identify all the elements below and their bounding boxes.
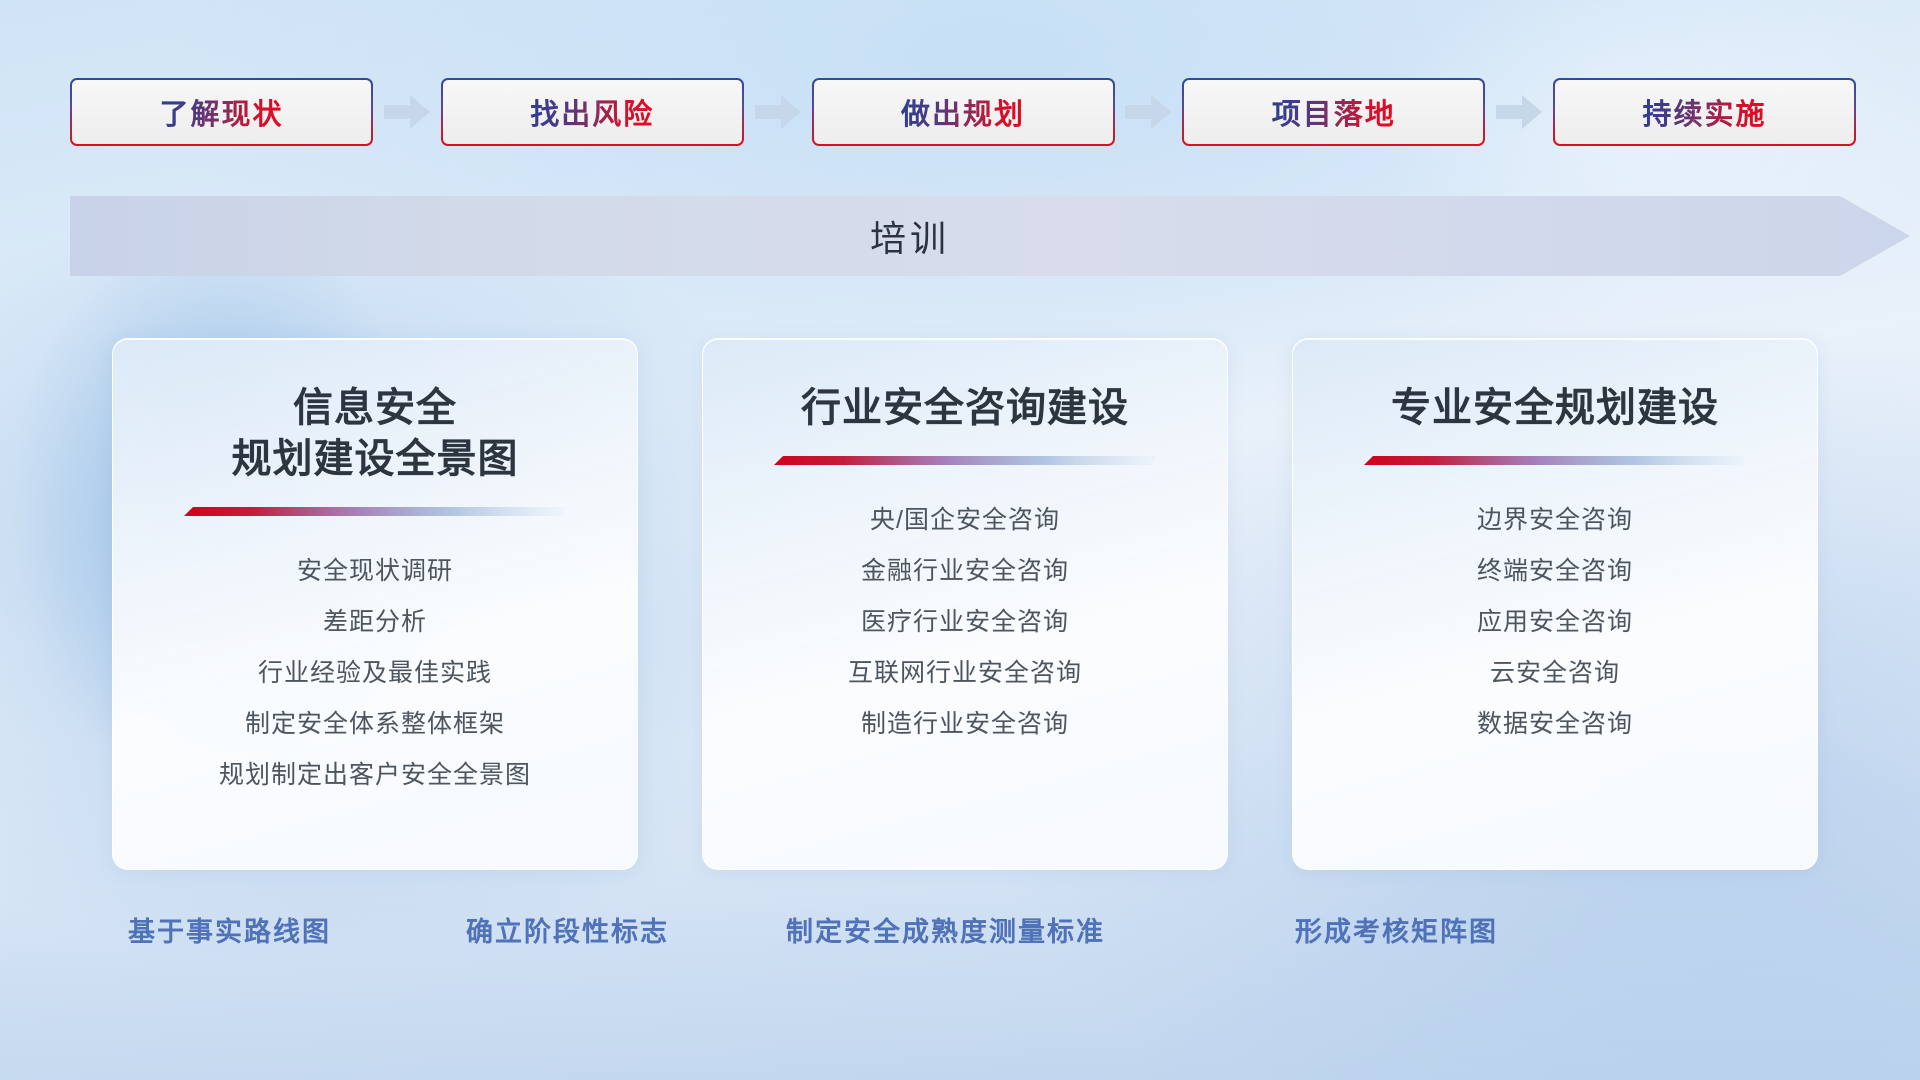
arrow-right-icon [1496,95,1542,129]
step-arrow-3 [1115,95,1183,129]
list-item: 规划制定出客户安全全景图 [141,750,609,801]
list-item: 边界安全咨询 [1321,495,1789,546]
step-label-3: 做出规划 [901,91,1025,133]
list-item: 互联网行业安全咨询 [731,648,1199,699]
list-item: 差距分析 [141,597,609,648]
step-box-3[interactable]: 做出规划 [812,78,1115,146]
gradient-rule-icon [1364,456,1746,465]
step-arrow-1 [373,95,441,129]
caption-1: 基于事实路线图 [128,910,331,949]
step-label-4: 项目落地 [1272,91,1396,133]
list-item: 安全现状调研 [141,546,609,597]
card-info-security-blueprint[interactable]: 信息安全 规划建设全景图 安全现状调研 [112,338,638,870]
slide-canvas: 了解现状 找出风险 做出规划 项目落地 [0,0,1920,1080]
card-title: 信息安全 规划建设全景图 [141,383,609,485]
card-item-list: 央/国企安全咨询 金融行业安全咨询 医疗行业安全咨询 互联网行业安全咨询 制造行… [731,495,1199,750]
card-row: 信息安全 规划建设全景图 安全现状调研 [112,338,1818,870]
gradient-rule-icon [184,507,566,516]
card-divider [774,456,1156,465]
list-item: 制造行业安全咨询 [731,699,1199,750]
caption-row: 基于事实路线图 确立阶段性标志 制定安全成熟度测量标准 形成考核矩阵图 [0,910,1920,956]
list-item: 应用安全咨询 [1321,597,1789,648]
step-box-5[interactable]: 持续实施 [1553,78,1856,146]
card-title: 行业安全咨询建设 [731,383,1199,434]
list-item: 终端安全咨询 [1321,546,1789,597]
step-box-4[interactable]: 项目落地 [1182,78,1485,146]
card-divider [1364,456,1746,465]
training-banner: 培训 [70,196,1910,276]
caption-2: 确立阶段性标志 [466,910,669,949]
card-item-list: 边界安全咨询 终端安全咨询 应用安全咨询 云安全咨询 数据安全咨询 [1321,495,1789,750]
list-item: 行业经验及最佳实践 [141,648,609,699]
arrow-right-icon [1125,95,1171,129]
list-item: 数据安全咨询 [1321,699,1789,750]
card-title: 专业安全规划建设 [1321,383,1789,434]
step-label-2: 找出风险 [530,91,654,133]
training-banner-label: 培训 [70,196,1750,276]
card-item-list: 安全现状调研 差距分析 行业经验及最佳实践 制定安全体系整体框架 规划制定出客户… [141,546,609,801]
card-industry-security-consulting[interactable]: 行业安全咨询建设 央/国企安全咨询 [702,338,1228,870]
caption-3: 制定安全成熟度测量标准 [786,910,1105,949]
list-item: 央/国企安全咨询 [731,495,1199,546]
arrow-right-icon [755,95,801,129]
arrow-right-icon [384,95,430,129]
step-box-1[interactable]: 了解现状 [70,78,373,146]
gradient-rule-icon [774,456,1156,465]
list-item: 金融行业安全咨询 [731,546,1199,597]
step-label-1: 了解现状 [159,91,283,133]
step-arrow-2 [744,95,812,129]
card-divider [184,507,566,516]
step-arrow-4 [1485,95,1553,129]
process-step-row: 了解现状 找出风险 做出规划 项目落地 [70,78,1856,146]
list-item: 医疗行业安全咨询 [731,597,1199,648]
caption-4: 形成考核矩阵图 [1295,910,1498,949]
list-item: 云安全咨询 [1321,648,1789,699]
list-item: 制定安全体系整体框架 [141,699,609,750]
step-box-2[interactable]: 找出风险 [441,78,744,146]
step-label-5: 持续实施 [1642,91,1766,133]
card-professional-security-planning[interactable]: 专业安全规划建设 边界安全咨询 [1292,338,1818,870]
